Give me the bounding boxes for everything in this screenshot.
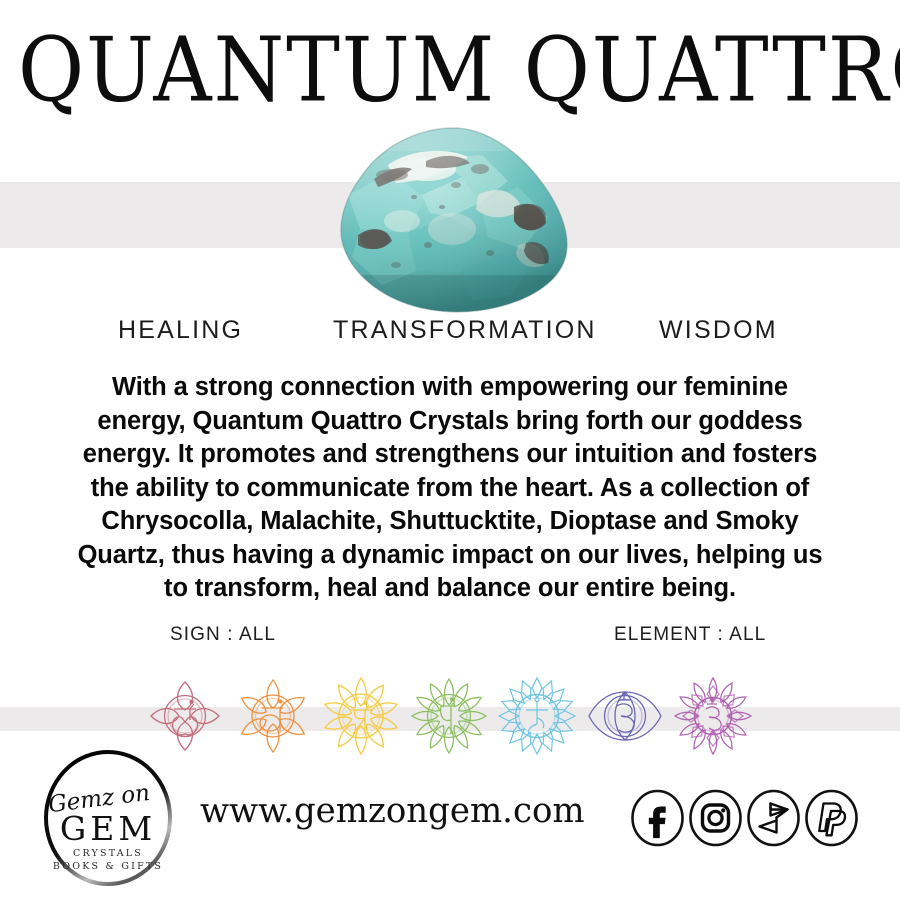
social-links — [630, 789, 860, 849]
sacral-chakra-icon — [233, 676, 313, 756]
heart-chakra-icon — [409, 676, 489, 756]
logo-tagline-2: BOOKS & GIFTS — [53, 861, 163, 872]
product-info-card: QUANTUM QUATTRO — [0, 0, 900, 900]
keyword-healing: HEALING — [118, 316, 243, 345]
keyword-transformation: TRANSFORMATION — [333, 316, 597, 345]
facebook-icon[interactable] — [630, 789, 685, 847]
solar-plexus-chakra-icon — [321, 676, 401, 756]
page-title: QUANTUM QUATTRO — [18, 24, 882, 115]
mercari-arrows-icon[interactable] — [746, 789, 801, 847]
logo-wordmark: GEM — [60, 809, 156, 848]
throat-chakra-icon — [497, 676, 577, 756]
logo-tagline-1: CRYSTALS — [73, 848, 143, 859]
description-text: With a strong connection with empowering… — [66, 371, 834, 606]
website-url[interactable]: www.gemzongem.com — [200, 791, 585, 831]
keyword-wisdom: WISDOM — [659, 316, 778, 345]
brand-logo[interactable]: Gemz on GEM CRYSTALS BOOKS & GIFTS — [36, 748, 181, 888]
keyword-row: HEALING TRANSFORMATION WISDOM — [0, 316, 900, 348]
instagram-icon[interactable] — [688, 789, 743, 847]
third-eye-chakra-icon — [585, 676, 665, 756]
chakra-row — [145, 676, 755, 756]
sign-label: SIGN : ALL — [170, 624, 276, 646]
paypal-icon[interactable] — [804, 789, 859, 847]
crystal-image — [330, 125, 580, 315]
root-chakra-icon — [145, 676, 225, 756]
element-label: ELEMENT : ALL — [614, 624, 766, 646]
crown-chakra-icon — [673, 676, 753, 756]
